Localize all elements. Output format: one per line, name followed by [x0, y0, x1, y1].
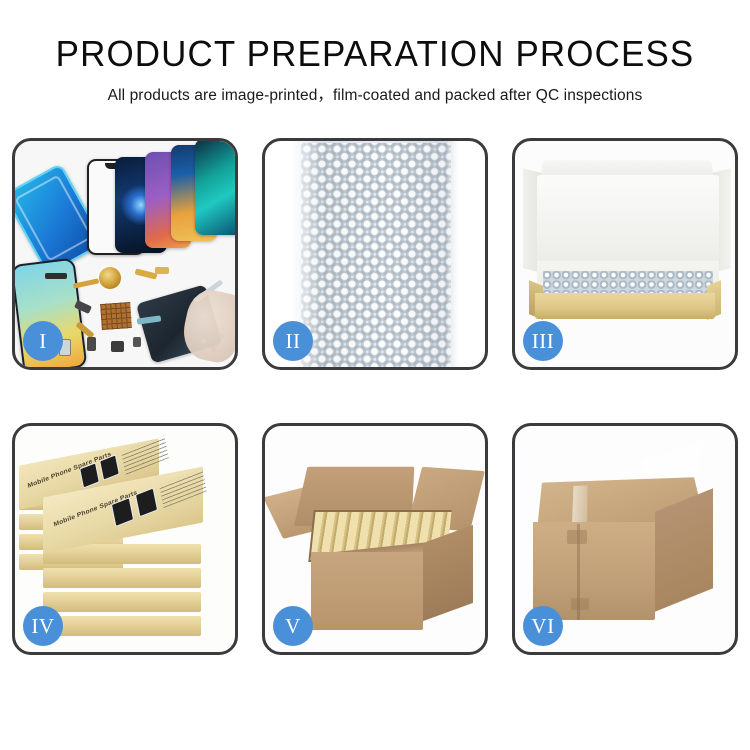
box-label-text: Mobile Phone Spare Parts: [27, 451, 112, 490]
process-steps-grid: I II III: [12, 138, 738, 655]
page-subtitle: All products are image-printed，film-coat…: [0, 83, 750, 105]
box-front-icon: [535, 293, 715, 319]
flex-cable-icon: [135, 268, 158, 279]
box-spec-lines: [159, 469, 207, 508]
component-icon: [87, 337, 96, 351]
step-badge-5: V: [273, 606, 313, 646]
product-preparation-infographic: PRODUCT PREPARATION PROCESS All products…: [0, 0, 750, 750]
step-badge-6: VI: [523, 606, 563, 646]
component-icon: [155, 267, 169, 274]
copper-mesh-icon: [100, 302, 132, 330]
step-badge-4: IV: [23, 606, 63, 646]
header: PRODUCT PREPARATION PROCESS All products…: [0, 0, 750, 105]
carton-tab-icon: [571, 598, 589, 610]
component-icon: [45, 273, 67, 279]
box-screen-graphic-right: [99, 454, 120, 480]
step-panel-2: II: [262, 138, 488, 370]
step-panel-3: III: [512, 138, 738, 370]
step-panel-5: V: [262, 423, 488, 655]
step-panel-6: VI: [512, 423, 738, 655]
carton-tab-icon: [567, 530, 587, 544]
box-screen-graphic-left: [79, 462, 100, 488]
kraft-box-icon: [43, 592, 201, 612]
kraft-box-icon: [43, 568, 201, 588]
step-badge-2: II: [273, 321, 313, 361]
box-spec-lines: [121, 435, 169, 474]
bubble-wrap-shading: [293, 141, 459, 367]
carton-front-icon: [533, 522, 655, 620]
speaker-icon: [99, 267, 121, 289]
step-badge-3: III: [523, 321, 563, 361]
page-title: PRODUCT PREPARATION PROCESS: [11, 34, 739, 74]
phone-screen-teal-icon: [195, 141, 235, 235]
step-panel-4: Mobile Phone Spare Parts Mobile Phone Sp…: [12, 423, 238, 655]
component-icon: [111, 341, 124, 352]
box-screen-graphic-right: [135, 487, 158, 517]
component-icon: [133, 337, 141, 347]
step-badge-1: I: [23, 321, 63, 361]
kraft-box-icon: [43, 616, 201, 636]
carton-front-icon: [311, 552, 423, 630]
step-panel-1: I: [12, 138, 238, 370]
carton-side-icon: [423, 525, 473, 621]
